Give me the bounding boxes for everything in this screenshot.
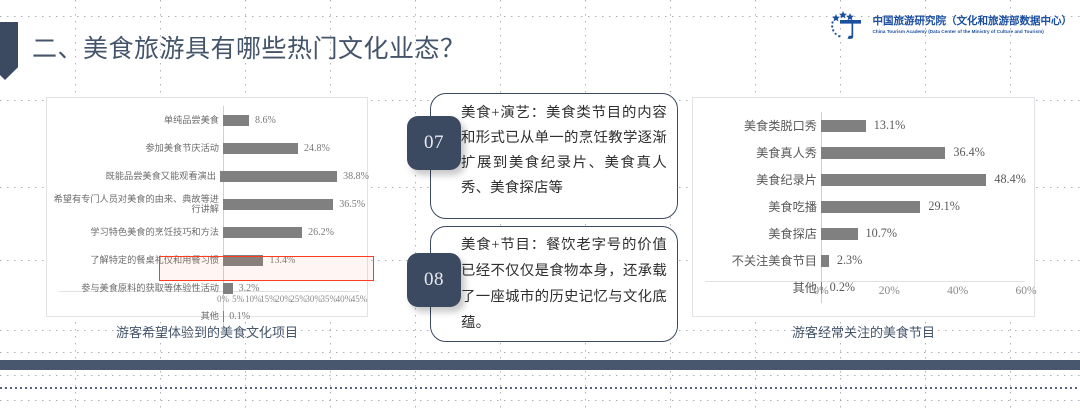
chart-bar-row: 美食纪录片48.4% [693, 166, 1036, 193]
chart-value-label: 2.3% [837, 253, 862, 268]
chart-bar [223, 227, 302, 238]
title-accent-shape [0, 22, 18, 80]
chart-category-label: 了解特定的餐桌礼仪和用餐习惯 [47, 255, 223, 266]
chart-bar-track: 10.7% [821, 220, 1036, 247]
chart-right-caption: 游客经常关注的美食节目 [692, 322, 1035, 341]
chart-xtick-label: 0% [813, 285, 828, 297]
chart-bar-row: 既能品尝美食又能观看演出38.8% [47, 162, 369, 190]
page-title: 二、美食旅游具有哪些热门文化业态？ [32, 33, 466, 67]
chart-xtick-label: 40% [336, 294, 353, 304]
guide-horizontal [0, 352, 1080, 353]
chart-xtick-label: 25% [290, 294, 307, 304]
chart-bar-row: 学习特色美食的烹饪技巧和方法26.2% [47, 218, 369, 246]
chart-bar-row: 美食探店10.7% [693, 220, 1036, 247]
callout-text-08: 美食+节目：餐饮老字号的价值已经不仅仅是食物本身，还承载了一座城市的历史记忆与文… [461, 232, 667, 336]
chart-category-label: 其他 [47, 311, 223, 322]
chart-bar [821, 255, 829, 267]
chart-bar [821, 120, 866, 132]
chart-bar [223, 143, 298, 154]
chart-category-label: 单纯品尝美食 [47, 115, 223, 126]
chart-value-label: 13.4% [269, 255, 295, 266]
chart-bar-track: 36.4% [821, 139, 1036, 166]
callout-card-07: 07 美食+演艺：美食类节目的内容和形式已从单一的烹饪教学逐渐扩展到美食纪录片、… [430, 93, 678, 219]
chart-value-label: 48.4% [994, 172, 1025, 187]
chart-bar-track: 26.2% [223, 218, 369, 246]
chart-bar [821, 174, 986, 186]
chart-bar-row: 美食吃播29.1% [693, 193, 1036, 220]
chart-bar [821, 147, 945, 159]
logo-name-en: China Tourism Academy (Data Center of th… [873, 28, 1073, 35]
chart-xtick-label: 60% [1015, 285, 1036, 297]
footer-dotted-rule [0, 387, 1080, 389]
chart-xtick-label: 35% [321, 294, 338, 304]
chart-xtick-label: 20% [879, 285, 900, 297]
chart-category-label: 参加美食节庆活动 [47, 143, 223, 154]
chart-category-label: 不关注美食节目 [693, 254, 821, 268]
chart-bar [223, 283, 233, 294]
chart-bar-row: 希望有专门人员对美食的由来、典故等进行讲解36.5% [47, 190, 369, 218]
chart-bar-row: 不关注美食节目2.3% [693, 247, 1036, 274]
chart-bar-track: 48.4% [821, 166, 1036, 193]
chart-bar-row: 参加美食节庆活动24.8% [47, 134, 369, 162]
chart-bar [220, 171, 337, 182]
chart-value-label: 8.6% [255, 115, 276, 126]
chart-category-label: 既能品尝美食又能观看演出 [47, 171, 220, 182]
chart-xtick-label: 40% [947, 285, 968, 297]
chart-category-label: 美食类脱口秀 [693, 119, 821, 133]
chart-bar-track: 24.8% [223, 134, 369, 162]
chart-value-label: 0.2% [830, 280, 855, 295]
chart-category-label: 美食探店 [693, 227, 821, 241]
slide-canvas: 二、美食旅游具有哪些热门文化业态？ 中国旅游研究院（文化和旅游部数据中心） [0, 0, 1080, 408]
chart-xtick-label: 20% [275, 294, 292, 304]
chart-right-bars: 美食类脱口秀13.1%美食真人秀36.4%美食纪录片48.4%美食吃播29.1%… [693, 112, 1036, 301]
logo-text: 中国旅游研究院（文化和旅游部数据中心） China Tourism Academ… [873, 15, 1073, 35]
chart-xtick-label: 0% [217, 294, 229, 304]
chart-value-label: 3.2% [239, 283, 260, 294]
chart-bar [223, 199, 333, 210]
chart-bar [223, 255, 263, 266]
chart-left-caption: 游客希望体验到的美食文化项目 [46, 322, 368, 341]
guide-horizontal [0, 375, 1080, 376]
chart-xtick-label: 15% [260, 294, 277, 304]
callout-card-08: 08 美食+节目：餐饮老字号的价值已经不仅仅是食物本身，还承载了一座城市的历史记… [430, 226, 678, 342]
logo-name-cn: 中国旅游研究院（文化和旅游部数据中心） [873, 15, 1073, 28]
chart-category-label: 希望有专门人员对美食的由来、典故等进行讲解 [47, 194, 223, 215]
chart-value-label: 36.5% [339, 199, 365, 210]
chart-category-label: 美食纪录片 [693, 173, 821, 187]
chart-value-label: 36.4% [953, 145, 984, 160]
chart-value-label: 10.7% [866, 226, 897, 241]
chart-bar [821, 228, 858, 240]
chart-category-label: 美食真人秀 [693, 146, 821, 160]
chart-xtick-label: 30% [305, 294, 322, 304]
chart-bar-row: 美食类脱口秀13.1% [693, 112, 1036, 139]
callout-text-07: 美食+演艺：美食类节目的内容和形式已从单一的烹饪教学逐渐扩展到美食纪录片、美食真… [461, 101, 667, 201]
chart-category-label: 参与美食原料的获取等体验性活动 [47, 283, 223, 294]
chart-value-label: 38.8% [343, 171, 369, 182]
chart-value-label: 24.8% [304, 143, 330, 154]
china-tourism-academy-logo-icon [828, 8, 868, 42]
chart-bar-row: 其他0.2% [693, 274, 1036, 301]
chart-bar-track: 0.2% [821, 274, 1036, 301]
chart-bar-track: 2.3% [821, 247, 1036, 274]
chart-value-label: 26.2% [308, 227, 334, 238]
chart-xtick-label: 10% [245, 294, 262, 304]
chart-bar-row: 美食真人秀36.4% [693, 139, 1036, 166]
chart-bar-row: 了解特定的餐桌礼仪和用餐习惯13.4% [47, 246, 369, 274]
chart-bar-track: 29.1% [821, 193, 1036, 220]
chart-value-label: 0.1% [229, 311, 250, 322]
chart-value-label: 13.1% [874, 118, 905, 133]
chart-panel-right: 美食类脱口秀13.1%美食真人秀36.4%美食纪录片48.4%美食吃播29.1%… [692, 97, 1035, 317]
guide-horizontal [0, 400, 1080, 401]
chart-xtick-label: 45% [351, 294, 368, 304]
callout-badge-07: 07 [407, 116, 461, 170]
chart-bar-track: 13.1% [821, 112, 1036, 139]
chart-bar [223, 115, 249, 126]
organization-logo: 中国旅游研究院（文化和旅游部数据中心） China Tourism Academ… [828, 8, 1073, 42]
chart-bar-track: 38.8% [220, 162, 369, 190]
chart-value-label: 29.1% [928, 199, 959, 214]
chart-category-label: 美食吃播 [693, 200, 821, 214]
chart-bar-track: 8.6% [223, 106, 369, 134]
chart-bar [821, 201, 920, 213]
footer-band [0, 360, 1080, 370]
chart-bar-row: 单纯品尝美食8.6% [47, 106, 369, 134]
chart-category-label: 学习特色美食的烹饪技巧和方法 [47, 227, 223, 238]
chart-panel-left: 单纯品尝美食8.6%参加美食节庆活动24.8%既能品尝美食又能观看演出38.8%… [46, 97, 368, 317]
chart-category-label: 其他 [693, 281, 821, 295]
chart-bar-track: 13.4% [223, 246, 369, 274]
chart-bar-track: 36.5% [223, 190, 369, 218]
chart-xtick-label: 5% [232, 294, 244, 304]
callout-badge-08: 08 [407, 253, 461, 307]
